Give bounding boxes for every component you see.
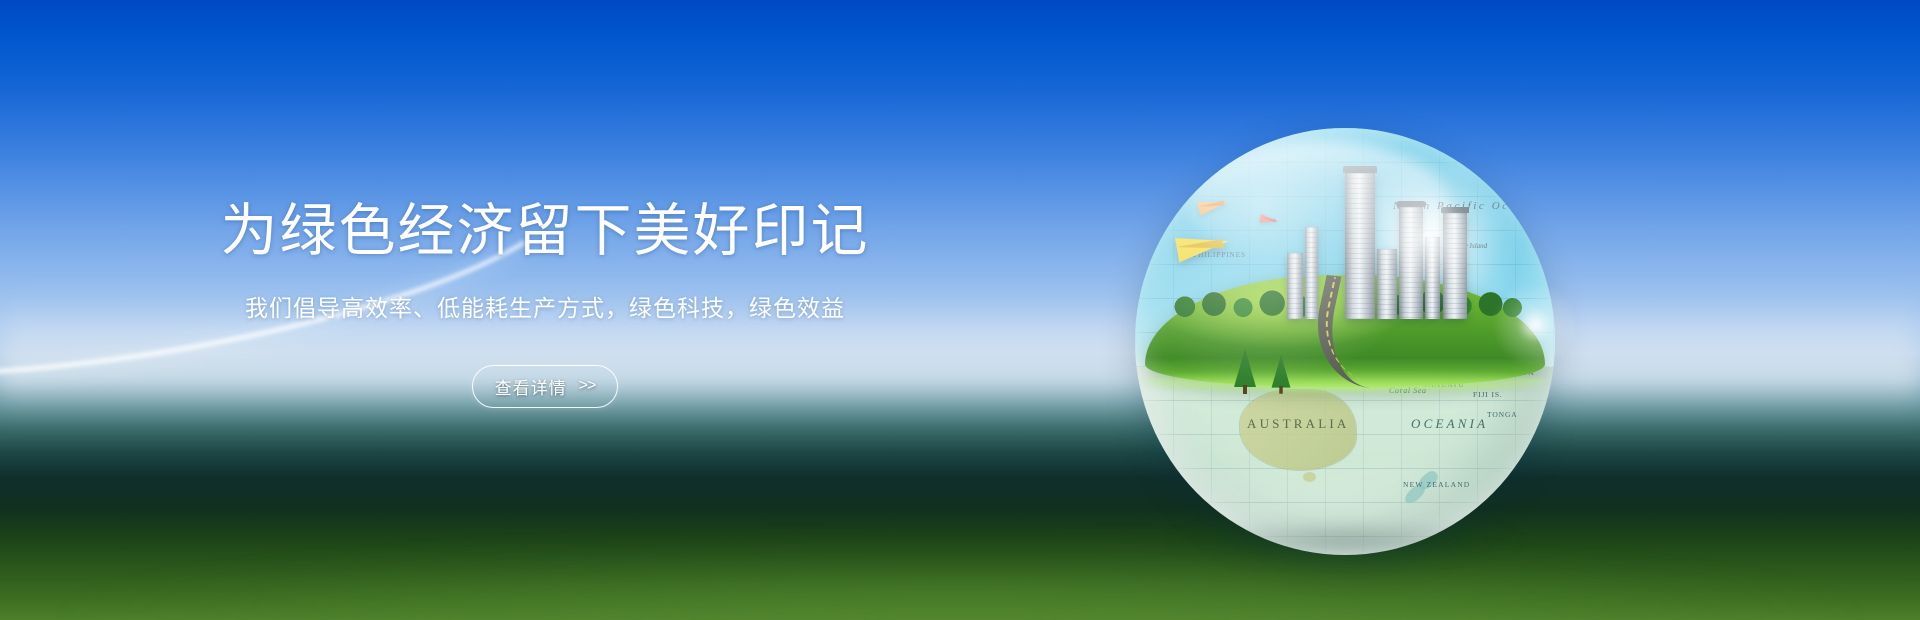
- view-details-label: 查看详情: [495, 374, 567, 399]
- view-details-button[interactable]: 查看详情 >>: [472, 365, 619, 408]
- globe-drop-shadow: [1165, 521, 1525, 561]
- skyscraper-7-roof: [1441, 207, 1469, 213]
- skyscraper-2: [1305, 227, 1318, 319]
- banner-subheadline: 我们倡导高效率、低能耗生产方式，绿色科技，绿色效益: [245, 292, 845, 324]
- tasmania-landmass: [1303, 472, 1316, 482]
- double-chevron-right-icon: >>: [579, 377, 596, 395]
- skyscraper-7: [1443, 213, 1467, 319]
- hero-banner: North Pacific Ocean AUSTRALIA OCEANIA NE…: [0, 0, 1920, 620]
- banner-headline: 为绿色经济留下美好印记: [221, 200, 870, 264]
- skyscraper-5-roof: [1397, 201, 1425, 207]
- skyscraper-3-roof: [1343, 166, 1377, 173]
- globe-sphere: North Pacific Ocean AUSTRALIA OCEANIA NE…: [1135, 128, 1555, 555]
- skyscraper-1: [1287, 253, 1303, 319]
- banner-copy: 为绿色经济留下美好印记 我们倡导高效率、低能耗生产方式，绿色科技，绿色效益 查看…: [0, 0, 1090, 620]
- globe-illustration: North Pacific Ocean AUSTRALIA OCEANIA NE…: [1135, 128, 1555, 555]
- skyscraper-6: [1425, 237, 1440, 319]
- australia-landmass: [1240, 390, 1356, 470]
